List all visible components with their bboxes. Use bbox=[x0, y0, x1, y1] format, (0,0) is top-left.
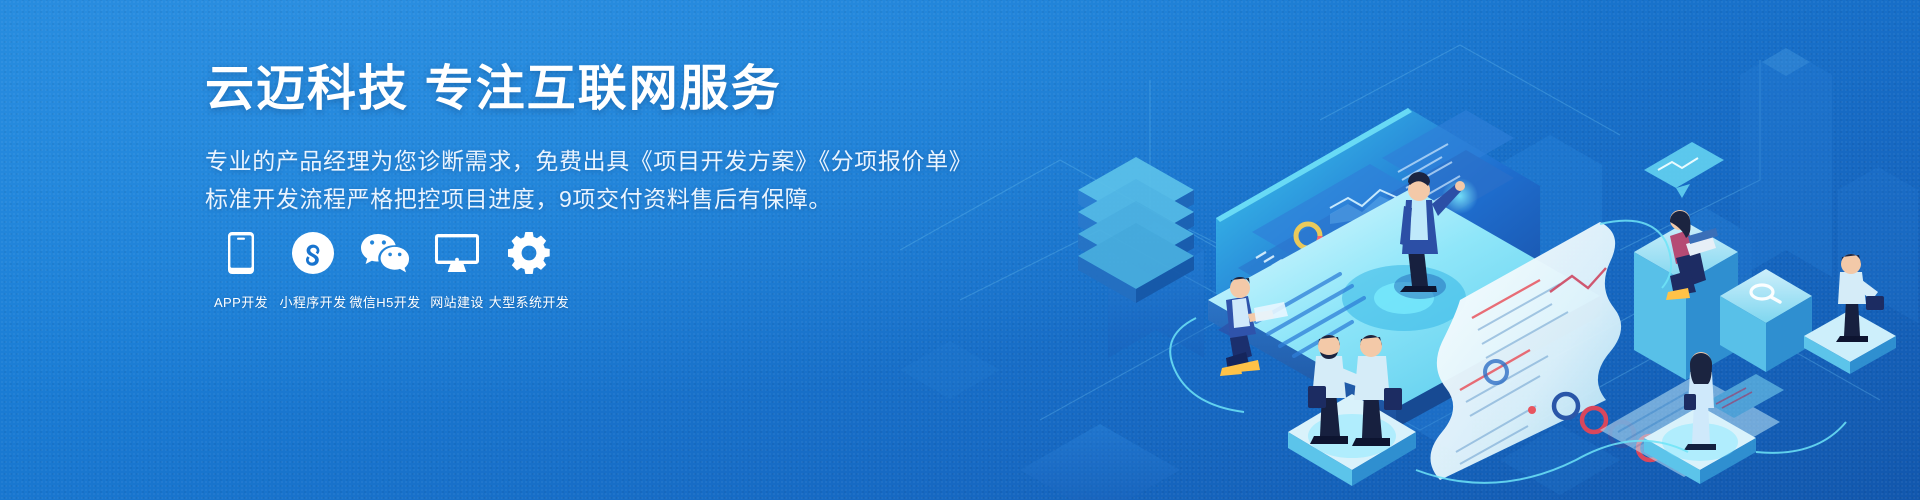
hero-copy: 云迈科技 专注互联网服务 专业的产品经理为您诊断需求，免费出具《项目开发方案》《… bbox=[205, 62, 905, 218]
wechat-icon bbox=[361, 231, 409, 275]
service-label: 大型系统开发 bbox=[489, 292, 569, 311]
mini-program-icon bbox=[292, 231, 334, 275]
subtitle-line-1: 专业的产品经理为您诊断需求，免费出具《项目开发方案》《分项报价单》 bbox=[205, 142, 905, 180]
hero-banner: 云迈科技 专注互联网服务 专业的产品经理为您诊断需求，免费出具《项目开发方案》《… bbox=[0, 0, 1920, 500]
gear-icon bbox=[508, 231, 550, 275]
service-label: 网站建设 bbox=[430, 292, 484, 311]
service-item-mini-program[interactable]: 小程序开发 bbox=[277, 231, 349, 311]
hero-subtitle: 专业的产品经理为您诊断需求，免费出具《项目开发方案》《分项报价单》 标准开发流程… bbox=[205, 142, 905, 218]
service-item-large-system[interactable]: 大型系统开发 bbox=[493, 231, 565, 311]
mobile-phone-icon bbox=[228, 231, 254, 275]
service-label: 微信H5开发 bbox=[349, 292, 420, 311]
service-item-wechat-h5[interactable]: 微信H5开发 bbox=[349, 231, 421, 311]
isometric-illustration bbox=[900, 0, 1920, 500]
monitor-icon bbox=[435, 231, 479, 275]
subtitle-line-2: 标准开发流程严格把控项目进度，9项交付资料售后有保障。 bbox=[205, 180, 905, 218]
service-item-website[interactable]: 网站建设 bbox=[421, 231, 493, 311]
service-label: APP开发 bbox=[214, 292, 268, 311]
service-item-app[interactable]: APP开发 bbox=[205, 231, 277, 311]
service-label: 小程序开发 bbox=[279, 292, 346, 311]
page-title: 云迈科技 专注互联网服务 bbox=[205, 62, 905, 118]
service-list: APP开发 小程序开发 微信H5开发 bbox=[205, 231, 565, 311]
